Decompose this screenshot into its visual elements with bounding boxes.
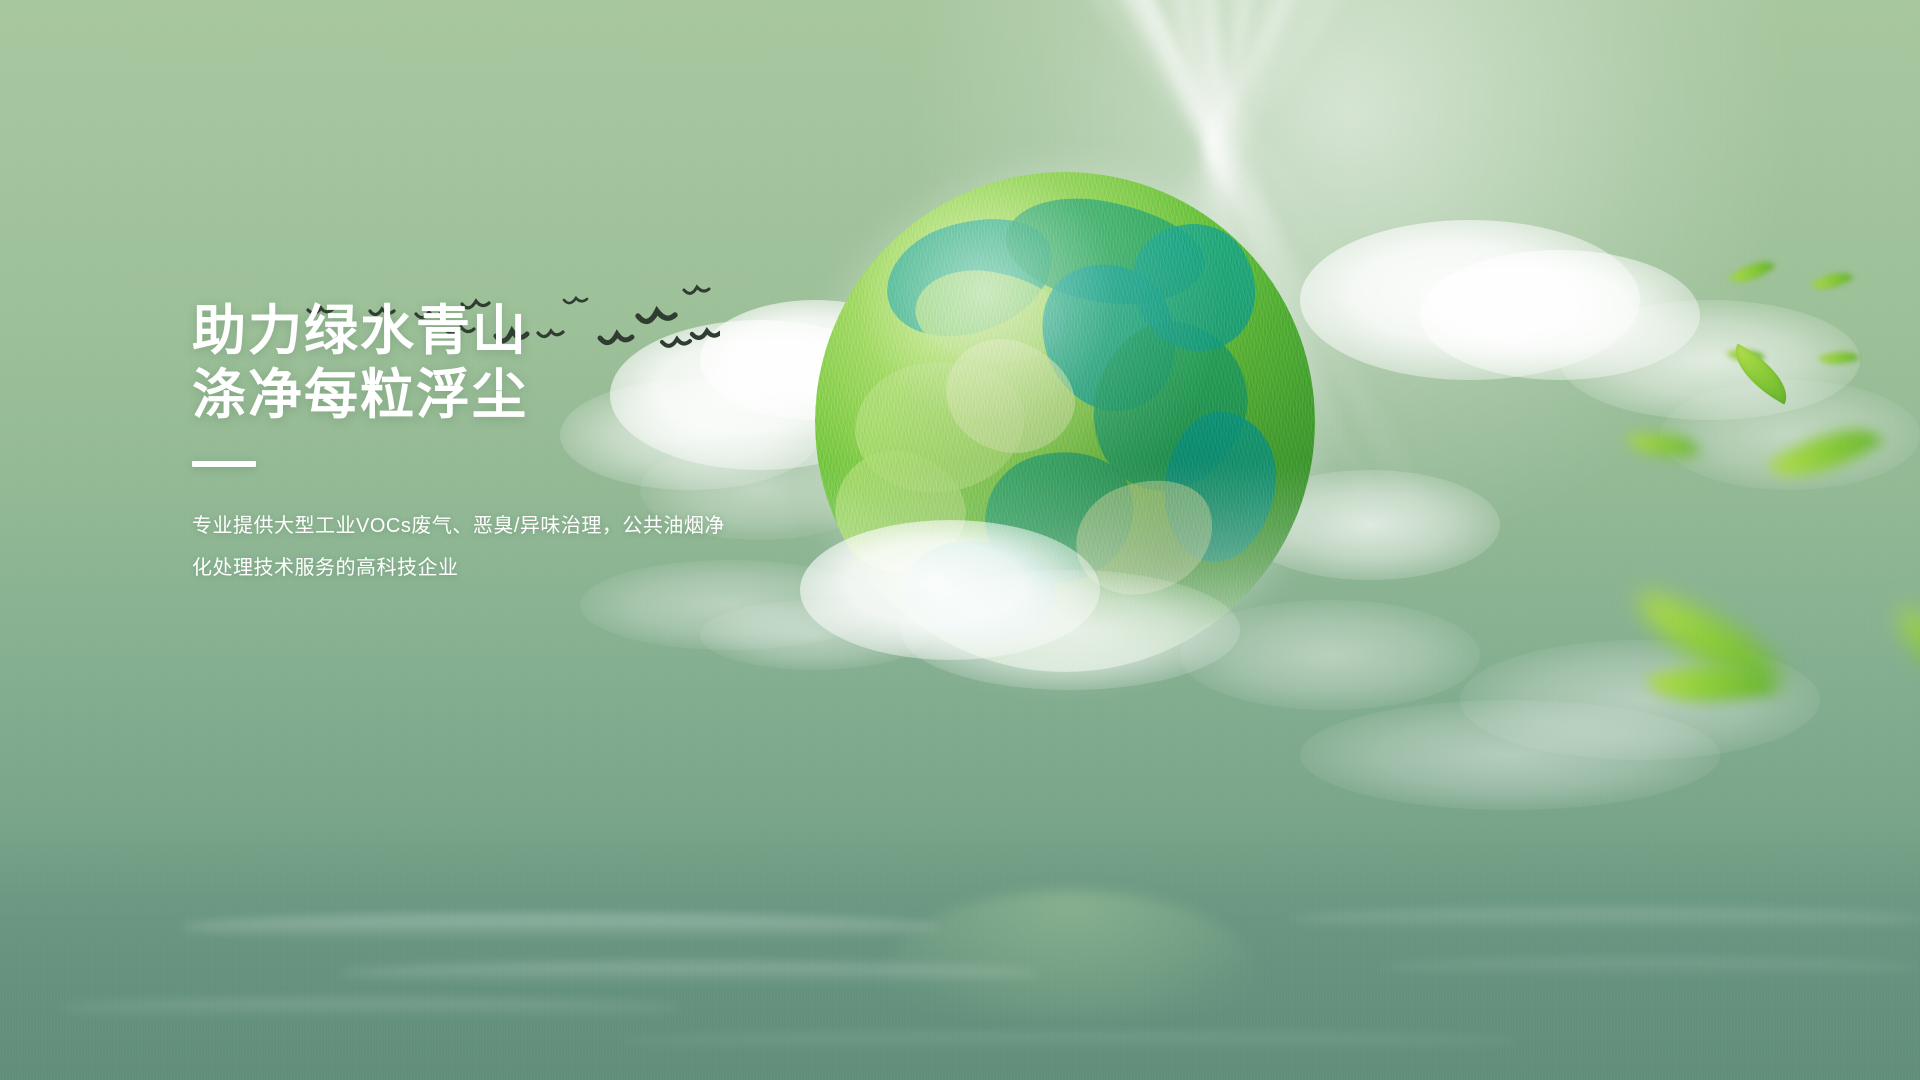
earth-globe (815, 172, 1315, 672)
globe-cloud-fog (815, 462, 1315, 672)
cloud (1300, 220, 1640, 380)
floating-leaf (1767, 403, 1884, 503)
headline-line-2: 涤净每粒浮尘 (192, 364, 812, 428)
cloud (1300, 700, 1720, 810)
cloud (1560, 300, 1860, 420)
floating-leaf (1810, 263, 1853, 299)
headline-line-1: 助力绿水青山 (192, 300, 812, 364)
subtitle-line-1: 专业提供大型工业VOCs废气、恶臭/异味治理，公共油烟净 (192, 505, 812, 547)
cloud (1420, 250, 1700, 380)
floating-leaf (1626, 424, 1700, 466)
bird-icon (684, 287, 709, 293)
hero-subtitle: 专业提供大型工业VOCs废气、恶臭/异味治理，公共油烟净 化处理技术服务的高科技… (192, 505, 812, 589)
floating-leaf (1729, 251, 1776, 294)
floating-leaf (1818, 344, 1859, 372)
hero-banner: 助力绿水青山 涤净每粒浮尘 专业提供大型工业VOCs废气、恶臭/异味治理，公共油… (0, 0, 1920, 1080)
hero-copy: 助力绿水青山 涤净每粒浮尘 专业提供大型工业VOCs废气、恶臭/异味治理，公共油… (192, 300, 812, 589)
headline-divider (192, 461, 256, 467)
subtitle-line-2: 化处理技术服务的高科技企业 (192, 547, 812, 589)
floating-leaf (1885, 606, 1920, 679)
